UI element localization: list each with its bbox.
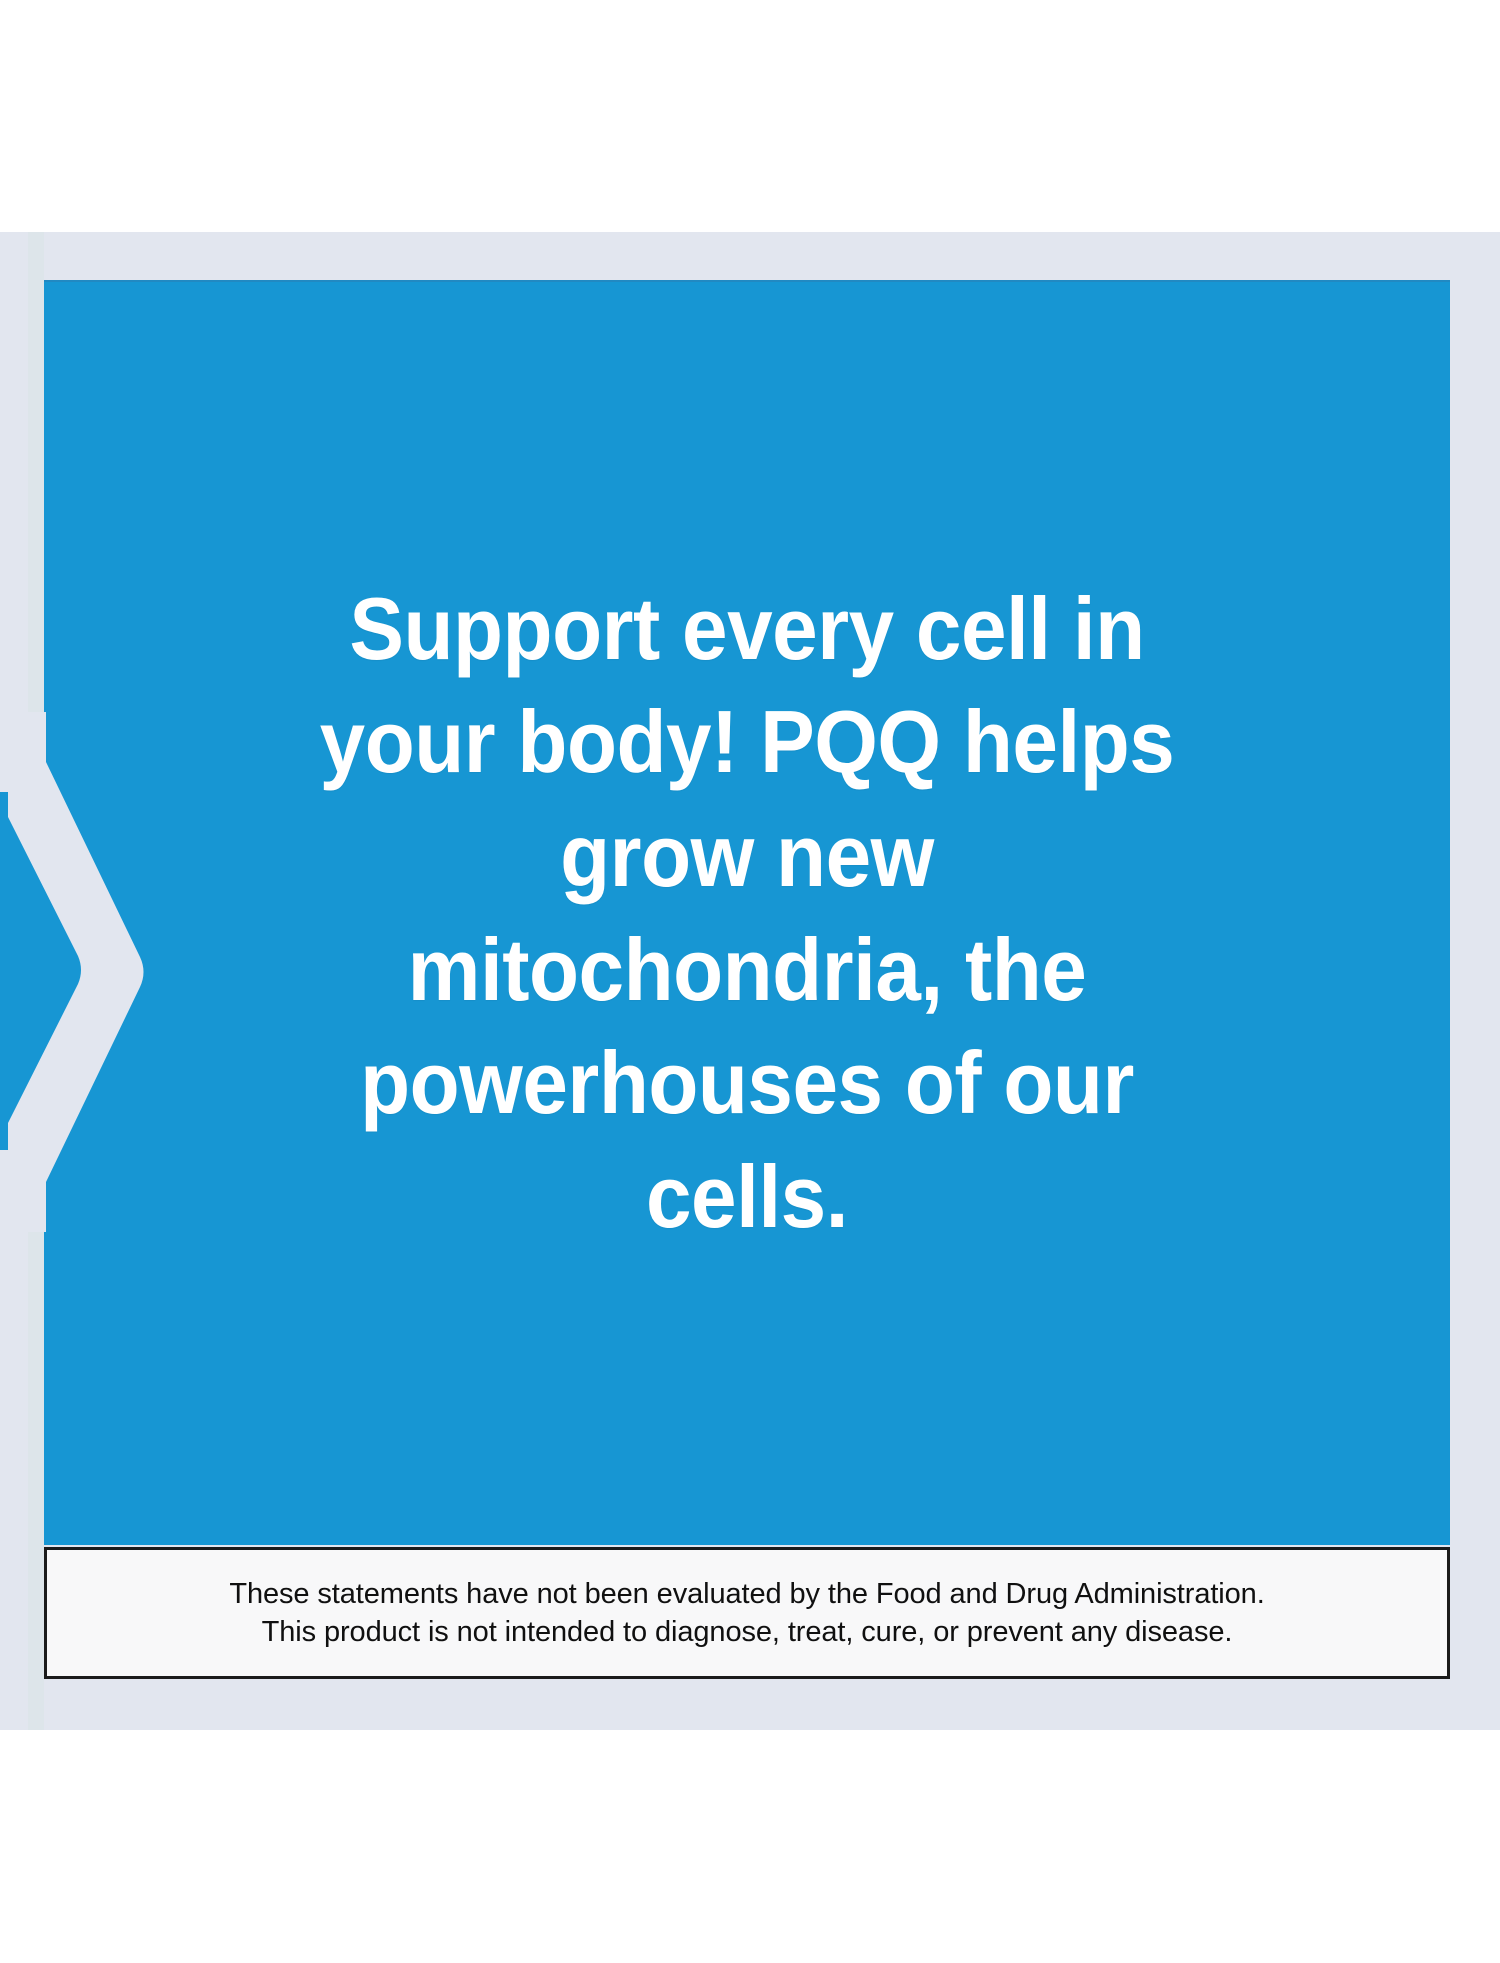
disclaimer-line-2: This product is not intended to diagnose… [262, 1613, 1233, 1651]
headline-container: Support every cell in your body! PQQ hel… [44, 280, 1450, 1545]
page-title: Support every cell in your body! PQQ hel… [289, 572, 1206, 1253]
fda-disclaimer: These statements have not been evaluated… [44, 1547, 1450, 1679]
disclaimer-line-1: These statements have not been evaluated… [229, 1575, 1264, 1613]
background-band-inner-strip [28, 232, 44, 1730]
promo-page: Support every cell in your body! PQQ hel… [0, 0, 1500, 1963]
